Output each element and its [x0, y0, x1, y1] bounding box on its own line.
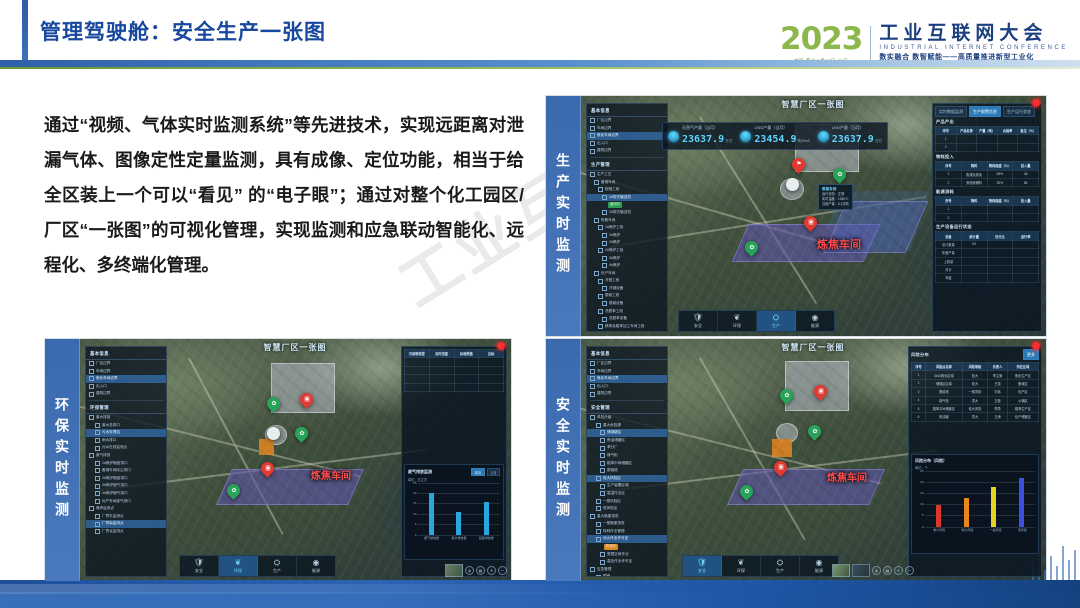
table-row[interactable] — [405, 366, 504, 374]
tree-item[interactable]: 雨水排口 — [86, 437, 166, 445]
cell — [1013, 249, 1039, 257]
checkbox-icon[interactable] — [596, 506, 601, 511]
toolbar-item-energy[interactable]: ◉能源 — [297, 556, 335, 576]
checkbox-icon[interactable] — [600, 461, 605, 466]
tree-item[interactable]: 1#焦炉烟囱排口 — [86, 460, 166, 468]
tree-item[interactable]: 应急管理 — [587, 566, 667, 574]
tree-item[interactable]: 4#焦炉 — [587, 262, 667, 270]
checkbox-icon[interactable] — [590, 172, 595, 177]
cell — [977, 135, 998, 143]
zoom-in-icon[interactable]: ＋ — [487, 566, 496, 575]
cell — [479, 358, 504, 366]
tree-item[interactable]: 厂区边界 — [587, 117, 667, 125]
toolbar-item-label: 能源 — [811, 323, 819, 329]
checkbox-icon[interactable] — [590, 392, 595, 397]
tree-item-selected[interactable]: 焦化车间边界 — [86, 375, 166, 383]
cell — [429, 358, 454, 366]
tree-item[interactable]: 出入口 — [86, 383, 166, 391]
map-pin-device-ok[interactable]: ✿ — [833, 168, 846, 185]
cell: 其他原辅料 — [961, 178, 987, 186]
tree-item[interactable]: 噪声监测点 — [86, 505, 166, 513]
tree-item-label: 备煤车间 — [601, 180, 615, 186]
kpi-value: 23637.9 — [832, 134, 874, 145]
tree-item-label: 应急管理 — [597, 567, 611, 573]
checkbox-icon[interactable] — [602, 233, 607, 238]
table-row[interactable]: 1 — [936, 205, 1039, 213]
checkbox-icon[interactable] — [596, 537, 601, 542]
checkbox-icon[interactable] — [598, 279, 603, 284]
locate-icon[interactable]: ◎ — [872, 566, 881, 575]
tree-item[interactable]: 炼焦车间 — [587, 217, 667, 225]
tree-item-label: 厂界北监测点 — [102, 529, 124, 535]
table-row[interactable]: 月计 — [936, 265, 1039, 273]
material-input-table: 序号 物料 物耗强度（%） 投入量 1焦煤及焦炭65%48 2其他原辅料35%8… — [935, 161, 1039, 187]
tree-item[interactable]: 废水排放 — [86, 414, 166, 422]
toolbar-item-environment[interactable]: ❦环保 — [718, 311, 757, 331]
safety-layer-tree[interactable]: 基本信息 厂区边界 车间边界 焦化车间边界 出入口 建筑边界 安全管理 风险分级… — [586, 346, 668, 577]
checkbox-icon[interactable] — [590, 141, 595, 146]
checkbox-icon[interactable] — [602, 256, 607, 261]
checkbox-icon[interactable] — [600, 552, 605, 557]
toolbar-item-label: 生产 — [772, 323, 780, 329]
checkbox-icon[interactable] — [89, 384, 94, 389]
tree-item[interactable]: 厂区边界 — [587, 360, 667, 368]
checkbox-icon[interactable] — [89, 361, 94, 366]
checkbox-icon[interactable] — [89, 415, 94, 420]
tree-item[interactable]: 特种作业管理 — [587, 528, 667, 536]
tree-item-label: 预案 — [603, 574, 610, 577]
tree-item[interactable]: 生产装置区域 — [587, 482, 667, 490]
tree-item-label: 2#焦炉烟囱排口 — [102, 476, 128, 482]
chart-bars — [418, 483, 500, 535]
tree-item-selected[interactable]: 储煤罐区 — [587, 429, 667, 437]
map-pin-tank[interactable] — [267, 427, 280, 444]
tree-item[interactable]: 风险分级 — [587, 414, 667, 422]
tree-item[interactable]: 4#焦炉烟气排口 — [86, 490, 166, 498]
tree-item-label: 配煤工段 — [605, 187, 619, 193]
panel-environment-map[interactable]: 智慧厂区一张图 ✹ ✿ ▣ ✿ ▣ ✿ 炼焦车间 基本信息 厂区边界 车间边界 … — [79, 339, 511, 581]
tree-item-selected[interactable]: 动火作业许可证 — [587, 535, 667, 543]
checkbox-icon[interactable] — [602, 210, 607, 215]
tree-item[interactable]: 粗苯中间储罐区 — [587, 460, 667, 468]
tree-item-label: 焦化车间边界 — [96, 376, 118, 382]
cell — [1013, 274, 1039, 282]
checkbox-icon[interactable] — [596, 522, 601, 527]
tree-item[interactable]: 冷凝设备 — [587, 285, 667, 293]
cell: 较大风险 — [962, 404, 987, 412]
map-pin-alarm[interactable]: ▣ — [814, 385, 827, 402]
tree-item[interactable]: 重大隐患排查 — [587, 513, 667, 521]
toolbar-item-safety[interactable]: 🛡安全 — [683, 556, 722, 576]
locate-icon[interactable]: ◎ — [465, 566, 474, 575]
checkbox-icon[interactable] — [598, 225, 603, 230]
checkbox-icon[interactable] — [602, 263, 607, 268]
cell: 1 — [936, 135, 957, 143]
tree-item[interactable]: 污水在线监测点 — [86, 444, 166, 452]
tree-item-label: 动火作业许可证 — [603, 536, 628, 542]
checkbox-icon[interactable] — [95, 484, 100, 489]
x-tick: 重大风险 — [933, 528, 945, 532]
checkbox-icon[interactable] — [600, 484, 605, 489]
tab-production-alarm[interactable]: 生产报警信息 — [969, 106, 1001, 117]
toolbar-item-environment[interactable]: ❦环保 — [219, 556, 258, 576]
production-data-panel[interactable]: 实时数据监测 生产报警信息 生产运行状态 产品产出 序号 产品名称 产量（吨） … — [932, 103, 1042, 332]
table-row[interactable]: 2储煤区区域较大王强备煤区 — [912, 379, 1039, 387]
cell: 3#1#焦化区域 — [926, 371, 963, 379]
map-pin-device-ok[interactable]: ✿ — [227, 484, 240, 501]
tree-item-selected[interactable]: 焦化车间边界 — [587, 132, 667, 140]
chart-bar — [936, 505, 941, 527]
tree-item-label: 出入口 — [96, 384, 107, 390]
map-pin-device-ok[interactable]: ✿ — [808, 425, 821, 442]
environment-map-controls[interactable]: ◎ ▤ ＋ － — [445, 564, 507, 577]
table-row[interactable]: 上周量 — [936, 257, 1039, 265]
tree-item[interactable]: 低风险区 — [587, 505, 667, 513]
tree-item[interactable]: 备煤车间除尘排口 — [86, 467, 166, 475]
toolbar-item-label: 能源 — [815, 568, 823, 574]
tree-item[interactable]: 建筑边界 — [86, 390, 166, 398]
checkbox-icon[interactable] — [602, 195, 607, 200]
tree-item[interactable]: 脱硫工段 — [587, 292, 667, 300]
tree-item[interactable]: 废水总排口 — [86, 422, 166, 430]
body-paragraph: 通过“视频、气体实时监测系统”等先进技术，实现远距离对泄漏气体、图像定性定量监测… — [44, 108, 524, 283]
checkbox-icon[interactable] — [95, 499, 100, 504]
zoom-in-icon[interactable]: ＋ — [894, 566, 903, 575]
tree-item-label: 1#焦炉烟囱排口 — [102, 461, 128, 467]
tree-item[interactable]: 建筑边界 — [587, 390, 667, 398]
checkbox-icon[interactable] — [598, 294, 603, 299]
layers-icon[interactable]: ▤ — [476, 566, 485, 575]
tree-item[interactable]: 厂区边界 — [86, 360, 166, 368]
table-row[interactable]: 3脱硫塔一般风险刘伟化产区 — [912, 388, 1039, 396]
tree-item[interactable]: 洗脱苯设备 — [587, 315, 667, 323]
panel-production-map[interactable]: 智慧厂区一张图 ✹ 天然气产量（当月） 23637.9万方 CNG产量（当月） … — [580, 96, 1046, 336]
table-row[interactable]: 年度产量 — [936, 249, 1039, 257]
zoom-out-icon[interactable]: － — [905, 566, 914, 575]
checkbox-icon[interactable] — [594, 180, 599, 185]
toolbar-item-production[interactable]: ⛭生产 — [757, 311, 796, 331]
checkbox-icon[interactable] — [596, 476, 601, 481]
table-row[interactable]: 4煤气柜重大王磊公辅区 — [912, 396, 1039, 404]
checkbox-icon[interactable] — [600, 468, 605, 473]
checkbox-icon[interactable] — [598, 187, 603, 192]
cell — [429, 366, 454, 374]
logo-year: 2023 — [780, 24, 862, 55]
map-pin-device-ok[interactable]: ✿ — [745, 241, 758, 258]
safety-data-panel[interactable]: 风险分布 更多 序号 风险点名称 风险等级 负责人 所在区域 13#1#焦化区域… — [908, 346, 1042, 577]
panel-production-monitoring[interactable]: 生产实时监测 智慧厂区一张图 ✹ 天然气产量（当月） 23637.9万方 — [545, 95, 1047, 337]
toolbar-item-environment[interactable]: ❦环保 — [722, 556, 761, 576]
cell — [977, 143, 998, 151]
cell: 较大 — [962, 379, 987, 387]
tree-item[interactable]: 2#焦炉工段 — [587, 247, 667, 255]
tree-item[interactable]: 1#焦炉 — [587, 232, 667, 240]
tree-item[interactable]: 配煤工段 — [587, 186, 667, 194]
checkbox-icon[interactable] — [89, 506, 94, 511]
checkbox-icon[interactable] — [600, 560, 605, 565]
tree-item[interactable]: 高处作业许可证 — [587, 558, 667, 566]
checkbox-icon[interactable] — [89, 392, 94, 397]
checkbox-icon[interactable] — [590, 361, 595, 366]
map-pin-alarm[interactable]: ▣ — [300, 393, 313, 410]
checkbox-icon[interactable] — [89, 453, 94, 458]
checkbox-icon[interactable] — [596, 423, 601, 428]
tree-item[interactable]: 化产车间 — [587, 270, 667, 278]
cell — [961, 257, 987, 265]
table-row[interactable]: 13#1#焦化区域较大李主管焦化生产区 — [912, 371, 1039, 379]
tree-item[interactable]: 洗脱苯工段 — [587, 308, 667, 316]
cell: 2 — [912, 379, 926, 387]
cell: 上周量 — [936, 257, 962, 265]
map-pin-alarm[interactable]: ▣ — [774, 461, 787, 478]
map-pin-alarm[interactable]: ⚑ — [792, 158, 805, 175]
layers-icon[interactable]: ▤ — [883, 566, 892, 575]
tree-item-label: 冷凝设备 — [609, 286, 623, 292]
panel-safety-map[interactable]: 智慧厂区一张图 ✹ ✿ ▣ ✿ ▣ ✿ 炼焦车间 基本信息 厂区边界 车间边界 … — [580, 339, 1046, 581]
safety-bottom-toolbar[interactable]: 🛡安全 ❦环保 ⛭生产 ◉能源 — [682, 555, 839, 577]
checkbox-icon[interactable] — [590, 369, 595, 374]
tree-item[interactable]: 1#焦炉工段 — [587, 224, 667, 232]
checkbox-icon[interactable] — [95, 430, 100, 435]
checkbox-icon[interactable] — [600, 453, 605, 458]
checkbox-icon[interactable] — [95, 529, 100, 534]
checkbox-icon[interactable] — [596, 499, 601, 504]
cell: 1 — [936, 170, 962, 178]
section-title: 风险分布 — [911, 352, 929, 358]
tree-item[interactable]: 焦油储罐区 — [587, 437, 667, 445]
cell: 刘伟 — [988, 388, 1008, 396]
zoom-out-icon[interactable]: － — [498, 566, 507, 575]
tree-item[interactable]: 精苯及粗苯加工车间工段 — [587, 323, 667, 331]
checkbox-icon[interactable] — [95, 522, 100, 527]
toolbar-item-production[interactable]: ⛭生产 — [258, 556, 297, 576]
tree-item[interactable]: 备煤车间 — [587, 179, 667, 187]
tree-item[interactable]: 厂界东监测点 — [86, 513, 166, 521]
tree-item[interactable]: 车间边界 — [86, 368, 166, 376]
panel-safety-monitoring[interactable]: 安全实时监测 智慧厂区一张图 ✹ ✿ ▣ ✿ ▣ ✿ 炼焦车间 基本信息 厂区边… — [545, 338, 1047, 582]
tree-item[interactable]: 2#焦炉 — [587, 239, 667, 247]
product-output-table: 序号 产品名称 产量（吨） 合格率 备注（%） 1 2 — [935, 126, 1039, 152]
table-row[interactable] — [405, 358, 504, 366]
tree-item-status: 作业中 — [587, 543, 667, 551]
checkbox-icon[interactable] — [590, 514, 595, 519]
checkbox-icon[interactable] — [590, 133, 595, 138]
cell: 35% — [987, 178, 1013, 186]
table-row[interactable] — [405, 383, 504, 391]
tree-item-label: 备煤车间除尘排口 — [102, 468, 131, 474]
production-bottom-toolbar[interactable]: 🛡安全 ❦环保 ⛭生产 ◉能源 — [678, 310, 835, 332]
checkbox-icon[interactable] — [602, 241, 607, 246]
map-pin-device-ok[interactable]: ✿ — [267, 397, 280, 414]
tree-item-label: 生产工艺 — [597, 172, 611, 178]
map-thumbnail-satellite[interactable] — [852, 564, 870, 577]
chart-bar — [456, 512, 461, 535]
tree-item-label: 精苯及粗苯加工设备 — [609, 331, 641, 332]
legend-item[interactable]: 上月 — [487, 468, 500, 476]
checkbox-icon[interactable] — [590, 118, 595, 123]
checkbox-icon[interactable] — [89, 369, 94, 374]
environment-data-panel[interactable]: 污染物类型 实时浓度 标准限值 达标 废气排放监测 本月 — [401, 346, 507, 577]
toolbar-item-safety[interactable]: 🛡安全 — [679, 311, 718, 331]
checkbox-icon[interactable] — [590, 384, 595, 389]
tree-item-selected[interactable]: 1#带式输送机 — [587, 194, 667, 202]
tree-item-label: 建筑边界 — [96, 391, 110, 397]
cell: 王涛 — [988, 413, 1008, 421]
checkbox-icon[interactable] — [95, 476, 100, 481]
tree-item-label: 洗脱苯工段 — [605, 309, 623, 315]
tree-item[interactable]: 煤气柜 — [587, 452, 667, 460]
map-thumbnail[interactable] — [832, 564, 850, 577]
status-badge: 运行中 — [608, 202, 622, 208]
checkbox-icon[interactable] — [95, 491, 100, 496]
map-pin-alarm[interactable]: ▣ — [261, 462, 274, 479]
map-pin-tank[interactable] — [786, 178, 799, 195]
map-pin-device-ok[interactable]: ✿ — [740, 485, 753, 502]
tree-item-selected[interactable]: 较大风险区 — [587, 475, 667, 483]
tree-item-selected[interactable]: 污水处理站 — [86, 429, 166, 437]
tree-item[interactable]: 车间边界 — [587, 368, 667, 376]
tree-item-selected[interactable]: 焦化车间边界 — [587, 375, 667, 383]
tree-item-selected[interactable]: 厂界南监测点 — [86, 520, 166, 528]
cell — [405, 358, 430, 366]
tree-item[interactable]: 3#焦炉烟气排口 — [86, 482, 166, 490]
tree-item[interactable]: 一般隐患排查 — [587, 520, 667, 528]
x-tick: 较大风险 — [961, 528, 973, 532]
safety-risk-chart: 风险分布（风险） 单位：个 25 20 15 10 5 0 — [911, 454, 1039, 554]
checkbox-icon[interactable] — [596, 575, 601, 577]
tree-item[interactable]: 脱硫设备 — [587, 300, 667, 308]
y-tick: 10 — [413, 512, 416, 516]
tree-item[interactable]: 精苯及粗苯加工设备 — [587, 330, 667, 332]
tree-item[interactable]: 高温作业区 — [587, 490, 667, 498]
tree-item-label: 2#带式输送机 — [609, 210, 631, 216]
checkbox-icon[interactable] — [594, 218, 599, 223]
checkbox-icon[interactable] — [596, 529, 601, 534]
checkbox-icon[interactable] — [602, 286, 607, 291]
checkbox-icon[interactable] — [598, 248, 603, 253]
checkbox-icon[interactable] — [602, 317, 607, 322]
tree-item[interactable]: 废气排放 — [86, 452, 166, 460]
checkbox-icon[interactable] — [590, 415, 595, 420]
safety-map-controls[interactable]: ◎ ▤ ＋ － — [832, 564, 914, 577]
checkbox-icon[interactable] — [590, 149, 595, 154]
tab-realtime-data[interactable]: 实时数据监测 — [935, 106, 967, 117]
chart-legend[interactable]: 本月 上月 — [471, 468, 500, 476]
map-pin-device-ok[interactable]: ✿ — [295, 427, 308, 444]
checkbox-icon[interactable] — [590, 567, 595, 572]
checkbox-icon[interactable] — [602, 301, 607, 306]
checkbox-icon[interactable] — [600, 491, 605, 496]
col-header: 物耗强度（%） — [987, 162, 1013, 170]
tree-item[interactable]: 出入口 — [587, 140, 667, 148]
checkbox-icon[interactable] — [600, 430, 605, 435]
checkbox-icon[interactable] — [590, 376, 595, 381]
kpi-unit: 万方 — [725, 139, 732, 143]
checkbox-icon[interactable] — [598, 309, 603, 314]
tree-item[interactable]: 苯分厂 — [587, 444, 667, 452]
tree-item[interactable]: 出入口 — [587, 383, 667, 391]
map-pin-device-ok[interactable]: ✿ — [780, 389, 793, 406]
tree-item[interactable]: 化产车间废气排口 — [86, 498, 166, 506]
tooltip-line: 当前产量：5.2万吨 — [822, 202, 849, 207]
table-row[interactable]: 2 — [936, 214, 1039, 222]
cell: 65% — [987, 170, 1013, 178]
production-layer-tree[interactable]: 基本信息 厂区边界 车间边界 焦化车间边界 出入口 建筑边界 生产管理 生产工艺… — [586, 103, 668, 332]
table-row[interactable]: 2其他原辅料35%86 — [936, 178, 1039, 186]
table-row[interactable]: 2 — [936, 143, 1039, 151]
map-pin-alarm[interactable]: ▣ — [804, 216, 817, 233]
alarm-beacon-icon: ✹ — [1030, 96, 1042, 110]
environment-layer-tree[interactable]: 基本信息 厂区边界 车间边界 焦化车间边界 出入口 建筑边界 环保管理 废水排放… — [85, 346, 167, 577]
table-row[interactable]: 1 — [936, 135, 1039, 143]
checkbox-icon[interactable] — [95, 468, 100, 473]
kpi-unit: 万方 — [875, 139, 882, 143]
checkbox-icon[interactable] — [600, 438, 605, 443]
tree-item[interactable]: 预案 — [587, 573, 667, 577]
tree-item[interactable]: 3#焦炉 — [587, 255, 667, 263]
tree-item[interactable]: 2#焦炉烟囱排口 — [86, 475, 166, 483]
environment-bottom-toolbar[interactable]: 🛡安全 ❦环保 ⛭生产 ◉能源 — [179, 555, 336, 577]
tree-item[interactable]: 重大危险源 — [587, 422, 667, 430]
col-header: 物料 — [961, 162, 987, 170]
toolbar-item-energy[interactable]: ◉能源 — [796, 311, 834, 331]
header-rule-green — [0, 67, 1080, 69]
table-row[interactable]: 年度 — [936, 274, 1039, 282]
checkbox-icon[interactable] — [89, 376, 94, 381]
legend-item[interactable]: 本月 — [471, 468, 484, 476]
tree-item[interactable]: 建筑边界 — [587, 147, 667, 155]
table-row[interactable]: 1焦煤及焦炭65%48 — [936, 170, 1039, 178]
tree-item[interactable]: 车间边界 — [587, 125, 667, 133]
table-row[interactable] — [405, 375, 504, 383]
tree-item[interactable]: 受限空间作业 — [587, 551, 667, 559]
checkbox-icon[interactable] — [598, 324, 603, 329]
table-row[interactable]: 6焦油罐重大王涛化产储罐区 — [912, 413, 1039, 421]
toolbar-item-production[interactable]: ⛭生产 — [761, 556, 800, 576]
checkbox-icon[interactable] — [95, 438, 100, 443]
section-title: 产品产出 — [936, 119, 1038, 125]
table-row[interactable]: 5粗苯中间储罐区较大风险李勇粗苯生产区 — [912, 404, 1039, 412]
tree-item[interactable]: 2#带式输送机 — [587, 209, 667, 217]
tree-item[interactable]: 一般风险区 — [587, 498, 667, 506]
panel-production-side-label: 生产实时监测 — [546, 96, 581, 336]
table-row[interactable]: 总计数量93 — [936, 240, 1039, 248]
checkbox-icon[interactable] — [590, 126, 595, 131]
checkbox-icon[interactable] — [95, 446, 100, 451]
checkbox-icon[interactable] — [95, 514, 100, 519]
tree-item[interactable]: 冷鼓工段 — [587, 277, 667, 285]
tree-item-label: 建筑边界 — [597, 391, 611, 397]
cell — [997, 143, 1018, 151]
col-header: 物料 — [961, 197, 987, 205]
tree-item-label: 一般风险区 — [603, 499, 621, 505]
tree-section-header: 基本信息 — [86, 349, 166, 360]
cell: 总计数量 — [936, 240, 962, 248]
tree-item[interactable]: 脱硫塔 — [587, 467, 667, 475]
tree-item[interactable]: 厂界北监测点 — [86, 528, 166, 536]
map-thumbnail[interactable] — [445, 564, 463, 577]
data-panel-tabs[interactable]: 实时数据监测 生产报警信息 生产运行状态 — [935, 106, 1039, 117]
tree-item[interactable]: 生产工艺 — [587, 171, 667, 179]
checkbox-icon[interactable] — [600, 446, 605, 451]
kpi-item: 天然气产量（当月） 23637.9万方 — [668, 126, 732, 146]
panel-environment-monitoring[interactable]: 环保实时监测 智慧厂区一张图 ✹ ✿ ▣ ✿ ▣ ✿ 炼焦车间 基本信息 厂区边… — [44, 338, 512, 582]
tree-item-label: 储煤罐区 — [607, 430, 621, 436]
toolbar-item-safety[interactable]: 🛡安全 — [180, 556, 219, 576]
checkbox-icon[interactable] — [95, 461, 100, 466]
checkbox-icon[interactable] — [95, 423, 100, 428]
checkbox-icon[interactable] — [594, 271, 599, 276]
